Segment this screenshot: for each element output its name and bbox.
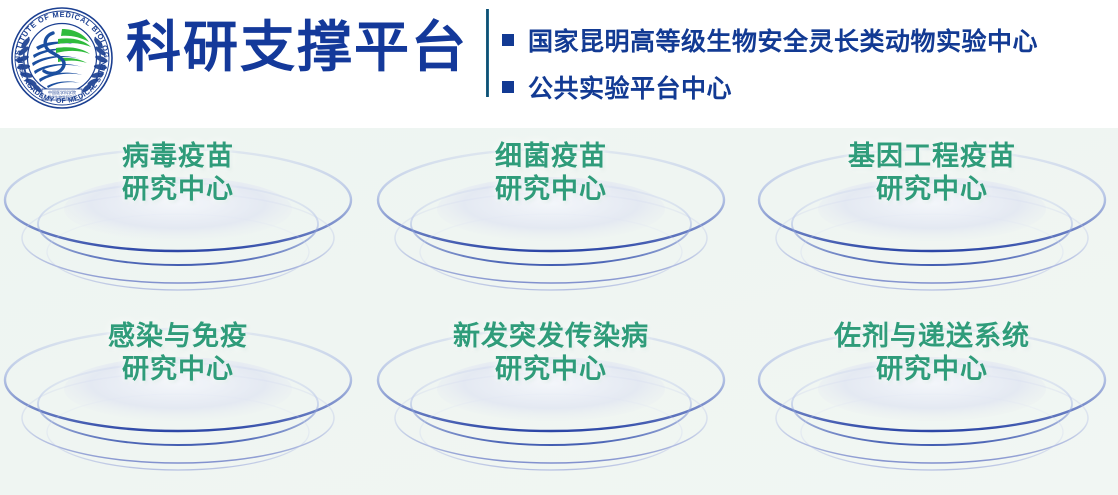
center-card-label: 佐剂与递送系统 研究中心 <box>746 320 1118 386</box>
subtitle-item-1: 公共实验平台中心 <box>502 63 1112 110</box>
center-card-line1: 病毒疫苗 <box>122 141 234 171</box>
subtitle-label: 国家昆明高等级生物安全灵长类动物实验中心 <box>528 22 1038 58</box>
center-card-label: 新发突发传染病 研究中心 <box>365 320 737 386</box>
center-card-line2: 研究中心 <box>365 173 737 206</box>
institute-emblem-icon: 中国医学科学院 医学生物学研究所 INSTITUTE OF MEDICAL BI… <box>6 3 118 109</box>
subtitle-label: 公共实验平台中心 <box>528 69 732 105</box>
center-card-line2: 研究中心 <box>746 173 1118 206</box>
center-card-line2: 研究中心 <box>365 353 737 386</box>
center-card-line2: 研究中心 <box>0 173 364 206</box>
center-card-bacterial-vaccine[interactable]: 细菌疫苗 研究中心 <box>365 134 737 318</box>
square-bullet-icon <box>502 34 514 46</box>
center-card-emerging-infectious-disease[interactable]: 新发突发传染病 研究中心 <box>365 314 737 495</box>
center-card-label: 基因工程疫苗 研究中心 <box>746 140 1118 206</box>
center-card-label: 细菌疫苗 研究中心 <box>365 140 737 206</box>
center-card-line1: 新发突发传染病 <box>453 321 649 351</box>
center-card-genetic-engineering-vaccine[interactable]: 基因工程疫苗 研究中心 <box>746 134 1118 318</box>
page-title: 科研支撑平台 <box>126 8 468 88</box>
center-card-virus-vaccine[interactable]: 病毒疫苗 研究中心 <box>0 134 364 318</box>
subtitle-item-0: 国家昆明高等级生物安全灵长类动物实验中心 <box>502 16 1112 63</box>
square-bullet-icon <box>502 81 514 93</box>
page-header: 中国医学科学院 医学生物学研究所 INSTITUTE OF MEDICAL BI… <box>0 0 1118 128</box>
center-card-infection-immunity[interactable]: 感染与免疫 研究中心 <box>0 314 364 495</box>
research-centers-panel: 病毒疫苗 研究中心 细菌疫苗 研究中心 基因工程疫苗 研究中心 <box>0 128 1118 495</box>
center-card-adjuvant-delivery-system[interactable]: 佐剂与递送系统 研究中心 <box>746 314 1118 495</box>
center-card-line2: 研究中心 <box>746 353 1118 386</box>
center-card-line1: 细菌疫苗 <box>495 141 607 171</box>
center-card-line1: 佐剂与递送系统 <box>834 321 1030 351</box>
header-subtitle-list: 国家昆明高等级生物安全灵长类动物实验中心 公共实验平台中心 <box>502 16 1112 110</box>
center-card-label: 感染与免疫 研究中心 <box>0 320 364 386</box>
center-card-line2: 研究中心 <box>0 353 364 386</box>
center-card-line1: 感染与免疫 <box>108 321 248 351</box>
center-card-label: 病毒疫苗 研究中心 <box>0 140 364 206</box>
header-divider <box>486 9 489 97</box>
svg-text:中国医学科学院: 中国医学科学院 <box>48 89 76 95</box>
center-card-line1: 基因工程疫苗 <box>848 141 1016 171</box>
